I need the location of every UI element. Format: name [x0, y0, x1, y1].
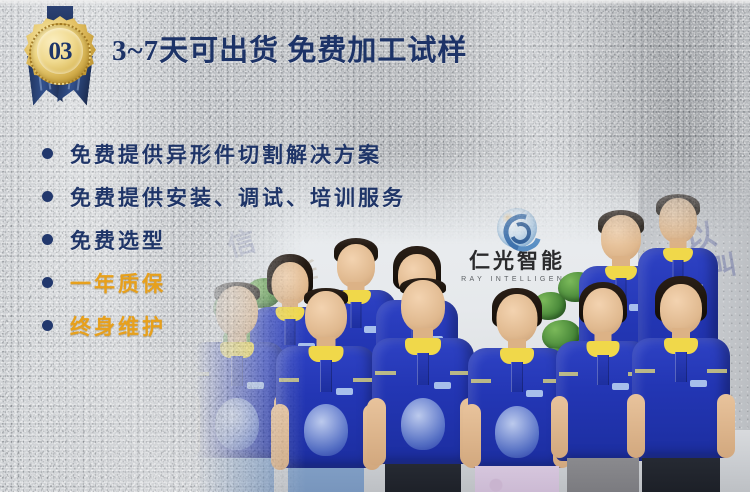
list-item: 免费提供异形件切割解决方案: [42, 132, 462, 175]
product-feature-banner: 信 任 以 叫 仁光智能 RAY INTELLIGENT: [0, 0, 750, 492]
feature-list: 免费提供异形件切割解决方案 免费提供安装、调试、培训服务 免费选型 一年质保 终…: [42, 132, 462, 347]
company-swirl-logo-icon: [497, 208, 537, 248]
page-title: 3~7天可出货 免费加工试样: [112, 27, 467, 69]
background-top-fade: [0, 0, 750, 6]
list-item: 一年质保: [42, 261, 462, 304]
bullet-dot-icon: [42, 191, 53, 202]
feature-text: 免费提供异形件切割解决方案: [70, 139, 382, 169]
bullet-dot-icon: [42, 320, 53, 331]
feature-text: 免费提供安装、调试、培训服务: [70, 182, 406, 212]
bullet-dot-icon: [42, 234, 53, 245]
list-item: 免费提供安装、调试、培训服务: [42, 175, 462, 218]
feature-text: 免费选型: [70, 225, 166, 255]
feature-text: 一年质保: [70, 268, 166, 298]
list-item: 免费选型: [42, 218, 462, 261]
step-number-medal-icon: 03: [14, 6, 106, 106]
medal-center: 03: [37, 28, 83, 74]
bullet-dot-icon: [42, 148, 53, 159]
step-number-label: 03: [49, 39, 72, 64]
bullet-dot-icon: [42, 277, 53, 288]
feature-text: 终身维护: [70, 311, 166, 341]
person-front-6: [627, 276, 735, 492]
list-item: 终身维护: [42, 304, 462, 347]
